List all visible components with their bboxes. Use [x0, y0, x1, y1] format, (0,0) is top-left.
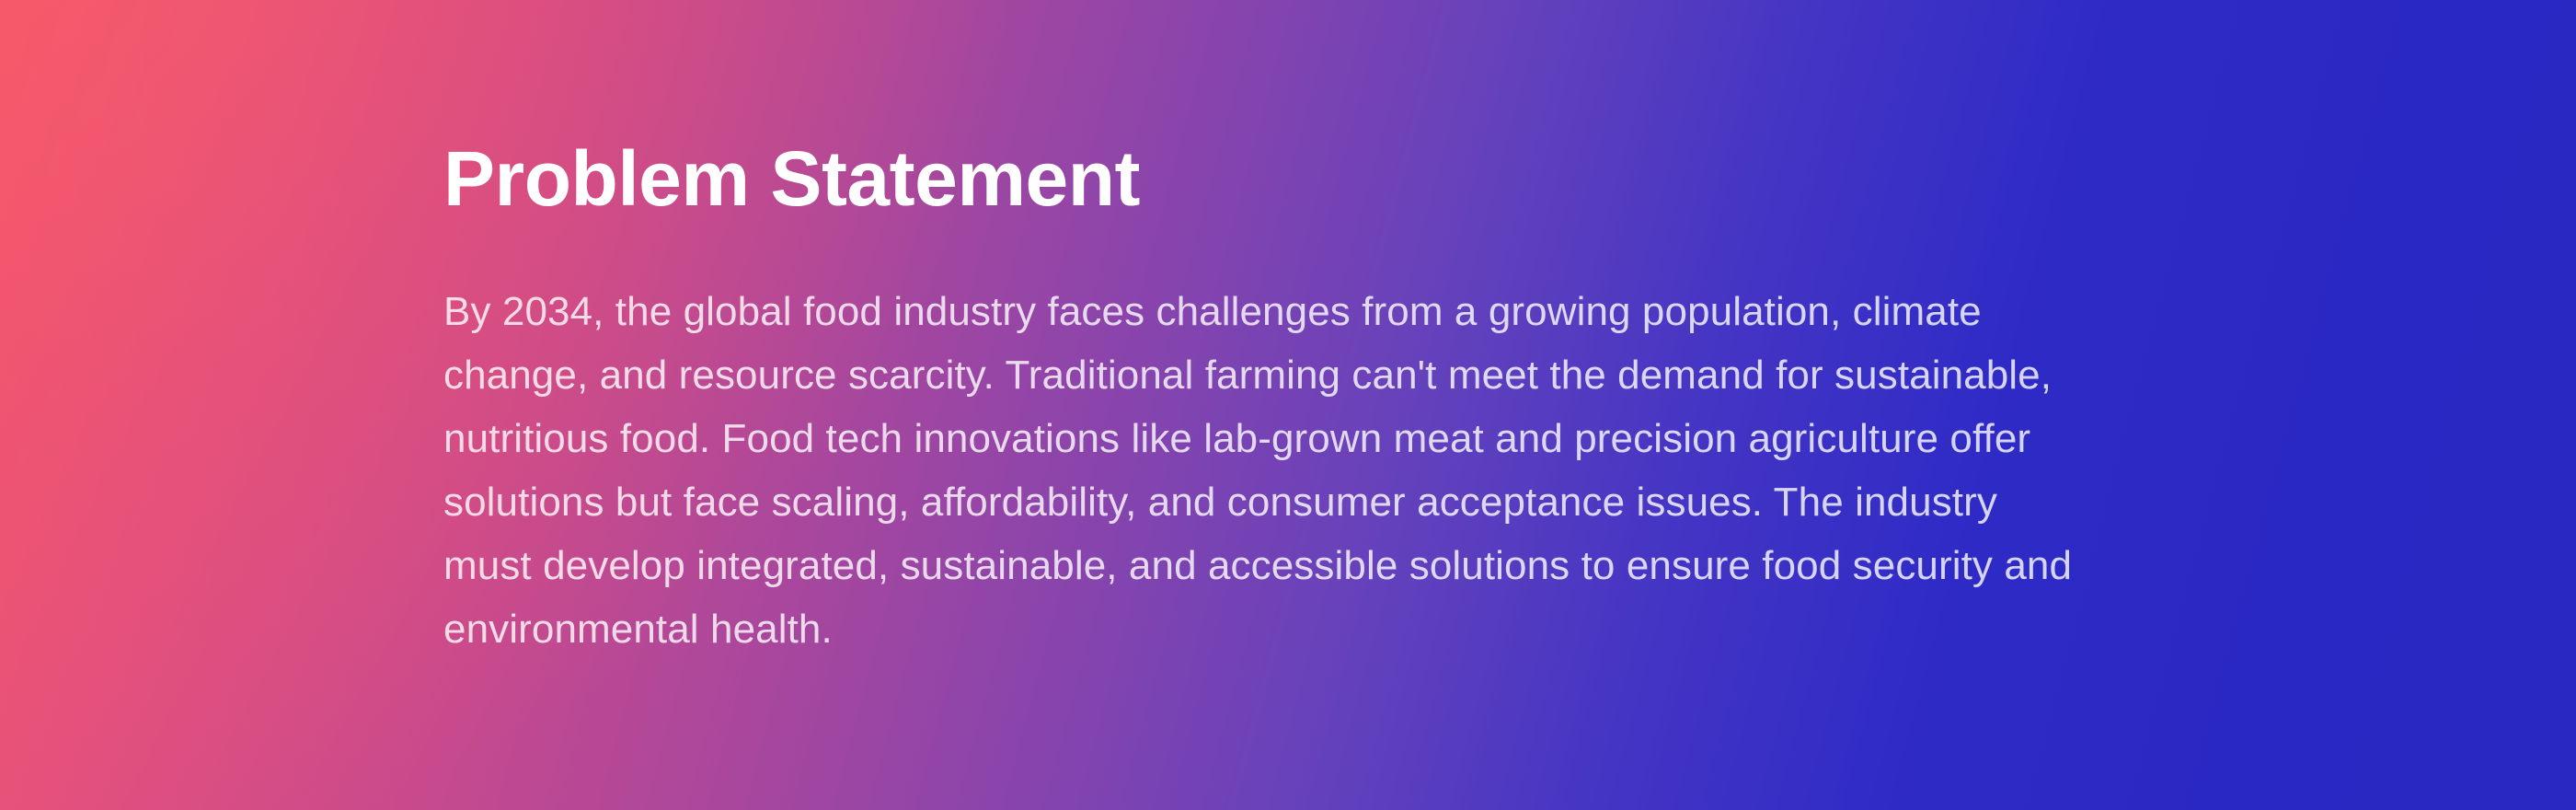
slide-background: Problem Statement By 2034, the global fo…	[0, 0, 2576, 810]
page-title: Problem Statement	[443, 134, 2099, 223]
problem-statement-body: By 2034, the global food industry faces …	[443, 280, 2090, 661]
slide-content: Problem Statement By 2034, the global fo…	[443, 134, 2099, 661]
